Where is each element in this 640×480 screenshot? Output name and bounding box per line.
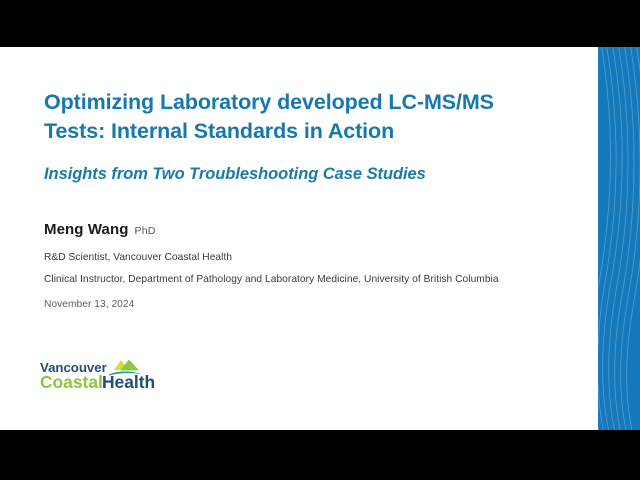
title-line-1: Optimizing Laboratory developed LC-MS/MS	[44, 88, 574, 117]
slide-text-area: Optimizing Laboratory developed LC-MS/MS…	[44, 47, 574, 310]
presentation-date: November 13, 2024	[44, 299, 574, 310]
video-frame: Optimizing Laboratory developed LC-MS/MS…	[0, 0, 640, 480]
logo-word-health: Health	[102, 372, 155, 392]
wave-lines-graphic	[598, 47, 640, 430]
author-degree: PhD	[135, 225, 156, 237]
letterbox-bottom	[0, 430, 640, 480]
title-line-2: Tests: Internal Standards in Action	[44, 117, 574, 146]
slide-subtitle: Insights from Two Troubleshooting Case S…	[44, 165, 574, 184]
blue-wave-band	[598, 47, 640, 430]
vancouver-coastal-health-logo: Vancouver Coastal Health	[40, 357, 168, 399]
author-block: Meng Wang PhD R&D Scientist, Vancouver C…	[44, 221, 574, 310]
author-affiliation-2: Clinical Instructor, Department of Patho…	[44, 274, 574, 285]
logo-graphic: Vancouver Coastal Health	[40, 357, 168, 399]
author-affiliation-1: R&D Scientist, Vancouver Coastal Health	[44, 252, 574, 263]
page-title: Optimizing Laboratory developed LC-MS/MS…	[44, 88, 574, 146]
logo-word-coastal: Coastal	[40, 372, 103, 392]
author-line: Meng Wang PhD	[44, 221, 574, 238]
author-name: Meng Wang	[44, 221, 129, 238]
presentation-slide: Optimizing Laboratory developed LC-MS/MS…	[0, 47, 640, 430]
letterbox-top	[0, 0, 640, 47]
